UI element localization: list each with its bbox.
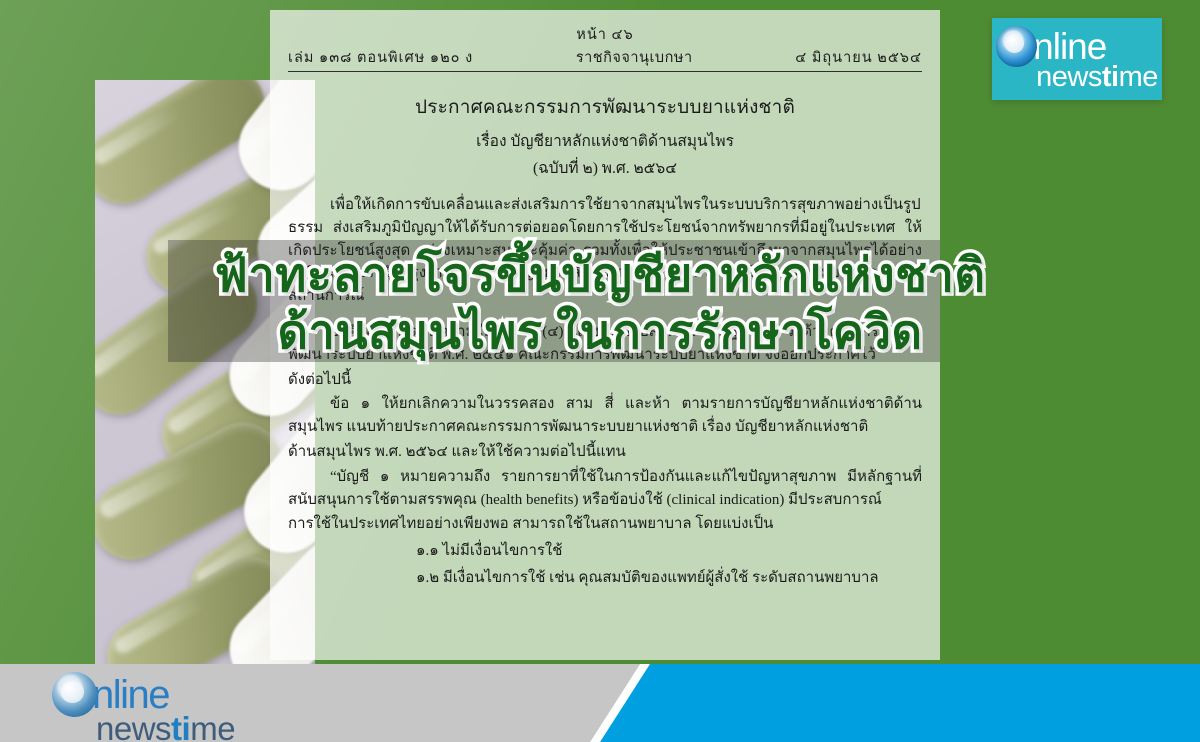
brand-name-news: news: [1036, 61, 1102, 93]
circle-o-icon: [996, 26, 1037, 67]
brand-name-me: me: [190, 710, 235, 742]
bottom-bar: nline newstime: [0, 664, 1200, 742]
brand-logo-top: nline newstime: [996, 26, 1158, 92]
headline-dim-band: [168, 240, 940, 362]
document-paragraph-2b: ดังต่อไปนี้: [288, 369, 922, 392]
brand-logo-bottom[interactable]: nline newstime: [52, 672, 235, 742]
brand-name-ti: ti: [1102, 61, 1119, 93]
volume-label: เล่ม ๑๓๘ ตอนพิเศษ ๑๒๐ ง: [288, 47, 473, 69]
document-paragraph-4b: การใช้ในประเทศไทยอย่างเพียงพอ สามารถใช้ใ…: [288, 513, 922, 536]
brand-name-line2: newstime: [96, 712, 235, 742]
brand-logo-badge-top[interactable]: nline newstime: [992, 18, 1162, 100]
brand-name-part2: nline: [1033, 28, 1106, 65]
document-paragraph-3b: ด้านสมุนไพร พ.ศ. ๒๕๖๔ และให้ใช้ความต่อไป…: [288, 441, 922, 464]
document-clause-1-1: ๑.๑ ไม่มีเงื่อนไขการใช้: [288, 540, 922, 563]
brand-name-ti: ti: [171, 710, 190, 742]
gazette-name: ราชกิจจานุเบกษา: [576, 47, 693, 69]
announcement-subject: เรื่อง บัญชียาหลักแห่งชาติด้านสมุนไพร: [288, 130, 922, 154]
page-number: หน้า ๔๖: [288, 24, 922, 46]
announcement-title: ประกาศคณะกรรมการพัฒนาระบบยาแห่งชาติ: [288, 94, 922, 123]
circle-o-icon: [52, 672, 97, 717]
brand-name-me: me: [1119, 61, 1158, 93]
brand-name-line2: newstime: [1036, 63, 1158, 92]
document-clause-1-2: ๑.๒ มีเงื่อนไขการใช้ เช่น คุณสมบัติของแพ…: [288, 567, 922, 590]
document-header: หน้า ๔๖ เล่ม ๑๓๘ ตอนพิเศษ ๑๒๐ ง ราชกิจจา…: [288, 24, 922, 72]
document-paragraph-4: “บัญชี ๑ หมายความถึง รายการยาที่ใช้ในการ…: [288, 466, 922, 512]
gazette-date: ๔ มิถุนายน ๒๕๖๔: [795, 47, 922, 69]
brand-name-part2: nline: [92, 675, 169, 715]
document-paragraph-3: ข้อ ๑ ให้ยกเลิกความในวรรคสอง สาม สี่ และ…: [288, 393, 922, 439]
brand-name-news: news: [96, 710, 171, 742]
announcement-edition: (ฉบับที่ ๒) พ.ศ. ๒๕๖๔: [288, 157, 922, 181]
gazette-header-row: เล่ม ๑๓๘ ตอนพิเศษ ๑๒๐ ง ราชกิจจานุเบกษา …: [288, 47, 922, 72]
